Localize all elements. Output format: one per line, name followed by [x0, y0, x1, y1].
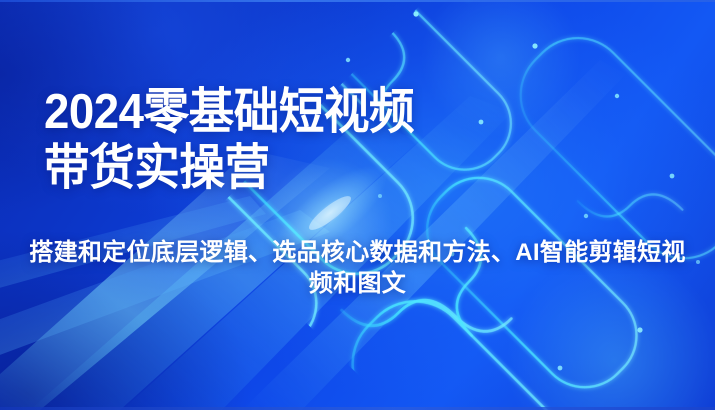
background-glow	[0, 0, 715, 410]
subheadline-line-1: 搭建和定位底层逻辑、选品核心数据和方法、AI智能剪辑短视	[6, 237, 709, 268]
headline-line-1: 2024零基础短视频	[44, 84, 639, 140]
headline-block: 2024零基础短视频 带货实操营	[44, 84, 684, 196]
subheadline-line-2: 频和图文	[6, 268, 709, 299]
top-edge-highlight	[0, 0, 715, 2]
subheadline-block: 搭建和定位底层逻辑、选品核心数据和方法、AI智能剪辑短视 频和图文	[0, 237, 715, 299]
headline-line-2: 带货实操营	[44, 140, 639, 196]
promo-banner: 2024零基础短视频 带货实操营 搭建和定位底层逻辑、选品核心数据和方法、AI智…	[0, 0, 715, 410]
